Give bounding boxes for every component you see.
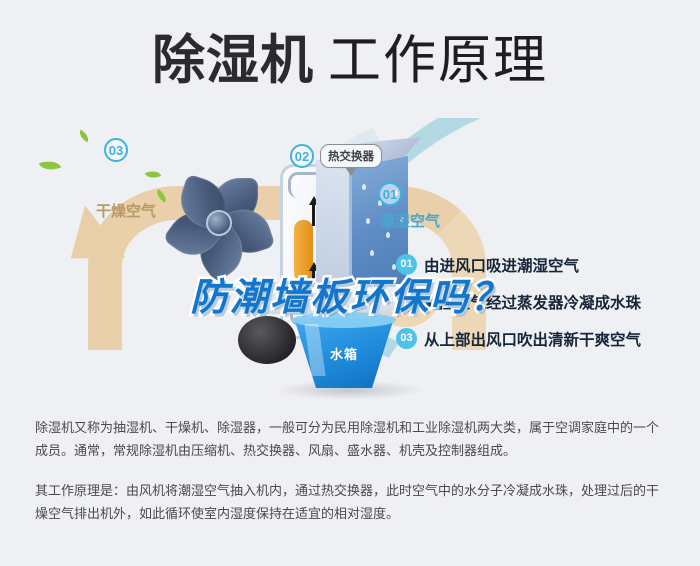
diagram-badge-03: 03 [104, 138, 128, 162]
fan-hub [206, 210, 232, 236]
heat-exchanger-callout: 热交换器 [320, 144, 382, 168]
diagram-badge-02: 02 [290, 144, 314, 168]
water-droplet [362, 184, 366, 190]
diagram-label-humid-air: 潮湿空气 [380, 210, 440, 231]
water-droplet [366, 218, 370, 224]
step-label: 从上部出风口吹出清新干爽空气 [424, 328, 641, 350]
leaf-icon [77, 130, 91, 143]
page-title-light: 工作原理 [328, 32, 548, 90]
water-droplet [386, 232, 390, 238]
step-badge: 03 [396, 328, 417, 349]
list-item: 03 从上部出风口吹出清新干爽空气 [396, 320, 696, 357]
overlay-headline: 防潮墙板环保吗？ [0, 266, 700, 321]
diagram-label-dry-air: 干燥空气 [96, 200, 156, 221]
body-paragraph-2: 其工作原理是：由风机将潮湿空气抽入机内，通过热交换器，此时空气中的水分子冷凝成水… [35, 481, 667, 526]
water-droplet [370, 250, 374, 256]
page-title-bold: 除湿机 [152, 30, 314, 91]
diagram-badge-01: 01 [378, 182, 402, 206]
flow-arrow-stem [312, 204, 315, 226]
infographic-page: 除湿机工作原理 [0, 0, 700, 566]
fan-illustration [168, 172, 272, 276]
water-tank-label: 水箱 [288, 344, 400, 363]
body-paragraph-1: 除湿机又称为抽湿机、干燥机、除湿器，一般可分为民用除湿机和工业除湿机两大类，属于… [35, 418, 667, 463]
page-title: 除湿机工作原理 [0, 18, 700, 94]
